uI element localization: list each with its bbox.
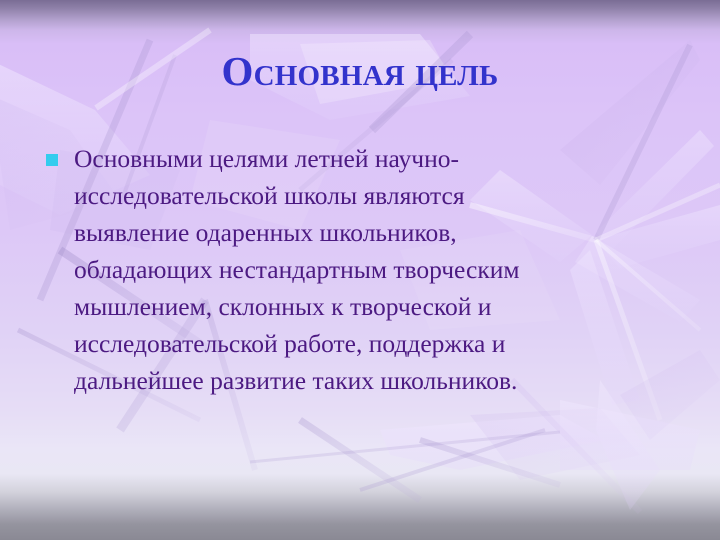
bullet-line: обладающих нестандартным творческим xyxy=(74,251,666,288)
bullet-text: Основными целями летней научно- исследов… xyxy=(74,140,666,399)
bullet-line: исследовательской школы являются xyxy=(74,177,666,214)
presentation-slide: Основная цель Основными целями летней на… xyxy=(0,0,720,540)
slide-body: Основными целями летней научно- исследов… xyxy=(46,140,666,399)
bullet-line: исследовательской работе, поддержка и xyxy=(74,325,666,362)
slide-title: Основная цель xyxy=(0,48,720,94)
list-item: Основными целями летней научно- исследов… xyxy=(46,140,666,399)
bullet-line: мышлением, склонных к творческой и xyxy=(74,288,666,325)
square-bullet-icon xyxy=(46,154,58,166)
bullet-line: дальнейшее развитие таких школьников. xyxy=(74,362,666,399)
bullet-line: выявление одаренных школьников, xyxy=(74,214,666,251)
bullet-line: Основными целями летней научно- xyxy=(74,140,666,177)
